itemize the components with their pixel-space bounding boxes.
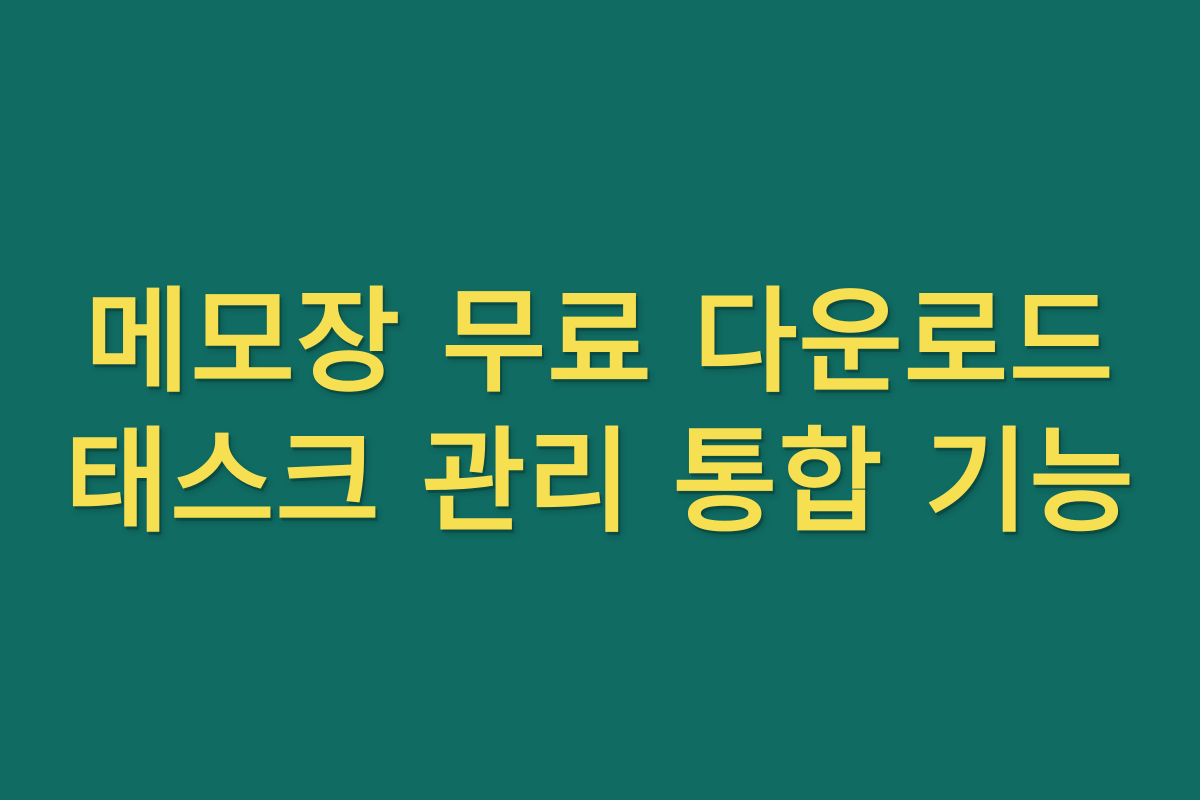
banner-canvas: 메모장 무료 다운로드 태스크 관리 통합 기능 — [0, 0, 1200, 800]
headline-line-2: 태스크 관리 통합 기능 — [0, 412, 1200, 552]
headline-block: 메모장 무료 다운로드 태스크 관리 통합 기능 — [0, 272, 1200, 552]
headline-line-1: 메모장 무료 다운로드 — [0, 272, 1200, 412]
